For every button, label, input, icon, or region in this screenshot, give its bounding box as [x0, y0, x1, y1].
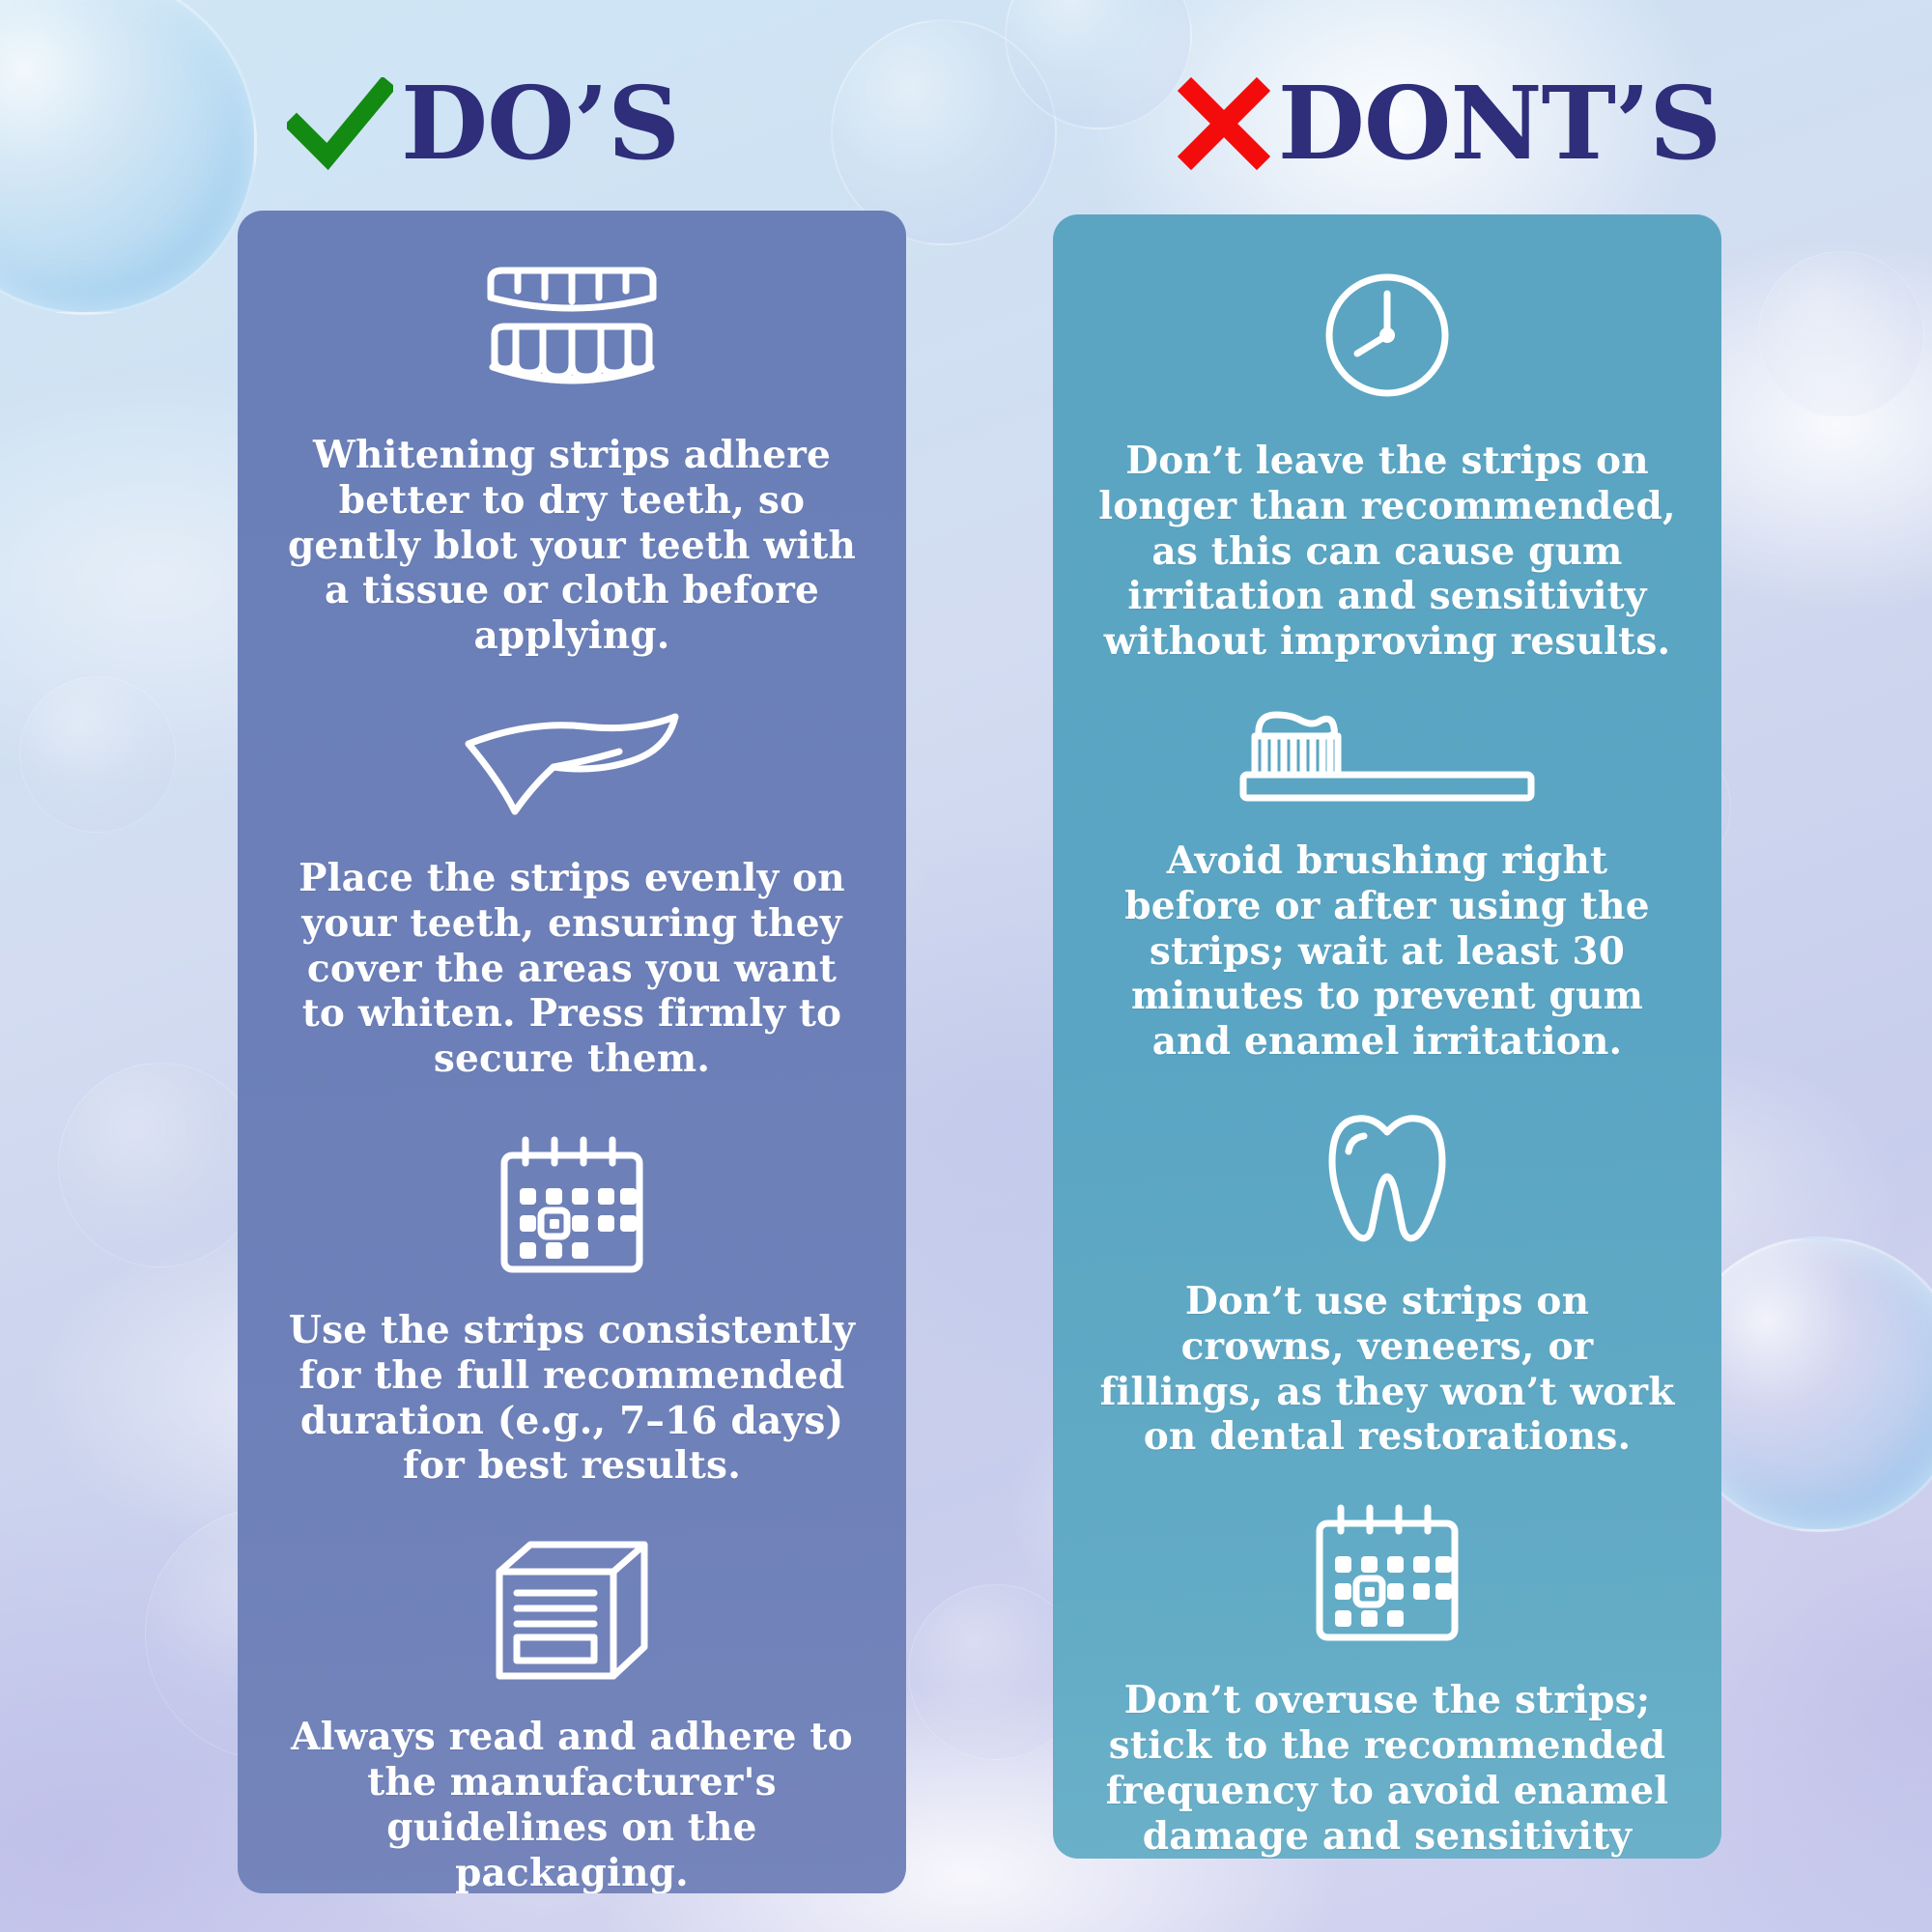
donts-item-3-text: Don’t use strips on crowns, veneers, or …: [1097, 1279, 1677, 1460]
heading-dos-label: DO’S: [401, 73, 679, 174]
heading-donts-label: DONT’S: [1278, 73, 1721, 174]
donts-item-2-text: Avoid brushing right before or after usi…: [1097, 838, 1677, 1065]
dos-item-1-text: Whitening strips adhere better to dry te…: [282, 433, 862, 659]
heading-donts: DONT’S: [966, 66, 1932, 182]
dos-item-3: Use the strips consistently for the full…: [282, 1082, 862, 1489]
dos-item-4-text: Always read and adhere to the manufactur…: [282, 1715, 862, 1893]
tooth-icon: [1325, 1107, 1449, 1248]
donts-item-3: Don’t use strips on crowns, veneers, or …: [1097, 1065, 1677, 1460]
donts-item-4-text: Don’t overuse the strips; stick to the r…: [1097, 1678, 1677, 1859]
green-check-icon: [287, 77, 393, 170]
clock-icon: [1317, 265, 1458, 406]
donts-item-4: Don’t overuse the strips; stick to the r…: [1097, 1460, 1677, 1859]
donts-card: Don’t leave the strips on longer than re…: [1053, 214, 1721, 1859]
heading-dos: DO’S: [0, 66, 966, 182]
product-box-icon: [490, 1539, 654, 1684]
dos-item-2: Place the strips evenly on your teeth, e…: [282, 659, 862, 1082]
toothbrush-icon: [1237, 707, 1537, 810]
headings-row: DO’S DONT’S: [0, 66, 1932, 182]
dos-item-3-text: Use the strips consistently for the full…: [282, 1308, 862, 1489]
infographic-canvas: DO’S DONT’S: [0, 0, 1932, 1932]
whitening-strip-icon: [461, 711, 683, 827]
dos-card: Whitening strips adhere better to dry te…: [238, 211, 906, 1893]
calendar-icon: [495, 1134, 649, 1279]
teeth-icon: [475, 259, 668, 400]
dos-item-2-text: Place the strips evenly on your teeth, e…: [282, 856, 862, 1082]
calendar-icon: [1310, 1502, 1464, 1647]
red-cross-icon: [1178, 77, 1270, 170]
donts-item-2: Avoid brushing right before or after usi…: [1097, 665, 1677, 1065]
donts-item-1: Don’t leave the strips on longer than re…: [1097, 253, 1677, 665]
donts-item-1-text: Don’t leave the strips on longer than re…: [1097, 439, 1677, 665]
dos-item-1: Whitening strips adhere better to dry te…: [282, 249, 862, 659]
dos-item-4: Always read and adhere to the manufactur…: [282, 1489, 862, 1893]
